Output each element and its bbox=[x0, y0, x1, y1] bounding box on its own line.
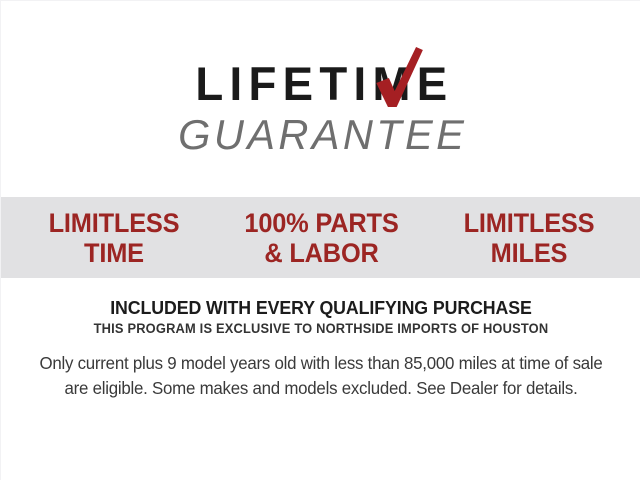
benefit-line-1: LIMITLESS bbox=[435, 208, 623, 238]
benefit-line-1: LIMITLESS bbox=[20, 208, 208, 238]
footer-copy: INCLUDED WITH EVERY QUALIFYING PURCHASE … bbox=[1, 297, 640, 401]
benefit-line-1: 100% PARTS bbox=[220, 208, 422, 238]
headline-included-with-purchase: INCLUDED WITH EVERY QUALIFYING PURCHASE bbox=[14, 297, 628, 319]
benefit-limitless-miles: LIMITLESS MILES bbox=[435, 208, 623, 268]
wordmark-lifetime: LIFETIME bbox=[189, 59, 453, 109]
logo-block: LIFETIME GUARANTEE bbox=[1, 59, 640, 158]
fine-print-disclaimer: Only current plus 9 model years old with… bbox=[11, 351, 632, 401]
benefit-limitless-time: LIMITLESS TIME bbox=[20, 208, 208, 268]
benefit-line-2: TIME bbox=[20, 238, 208, 268]
benefits-band: LIMITLESS TIME 100% PARTS & LABOR LIMITL… bbox=[1, 197, 640, 278]
wordmark-lifetime-text: LIFETIME bbox=[195, 57, 453, 110]
benefit-line-2: MILES bbox=[435, 238, 623, 268]
benefit-line-2: & LABOR bbox=[220, 238, 422, 268]
benefit-parts-labor: 100% PARTS & LABOR bbox=[220, 208, 422, 268]
subline-exclusive-dealer: THIS PROGRAM IS EXCLUSIVE TO NORTHSIDE I… bbox=[14, 320, 628, 337]
wordmark-guarantee: GUARANTEE bbox=[4, 112, 638, 158]
lifetime-guarantee-ad: LIFETIME GUARANTEE LIMITLESS TIME 100% P… bbox=[0, 0, 640, 480]
